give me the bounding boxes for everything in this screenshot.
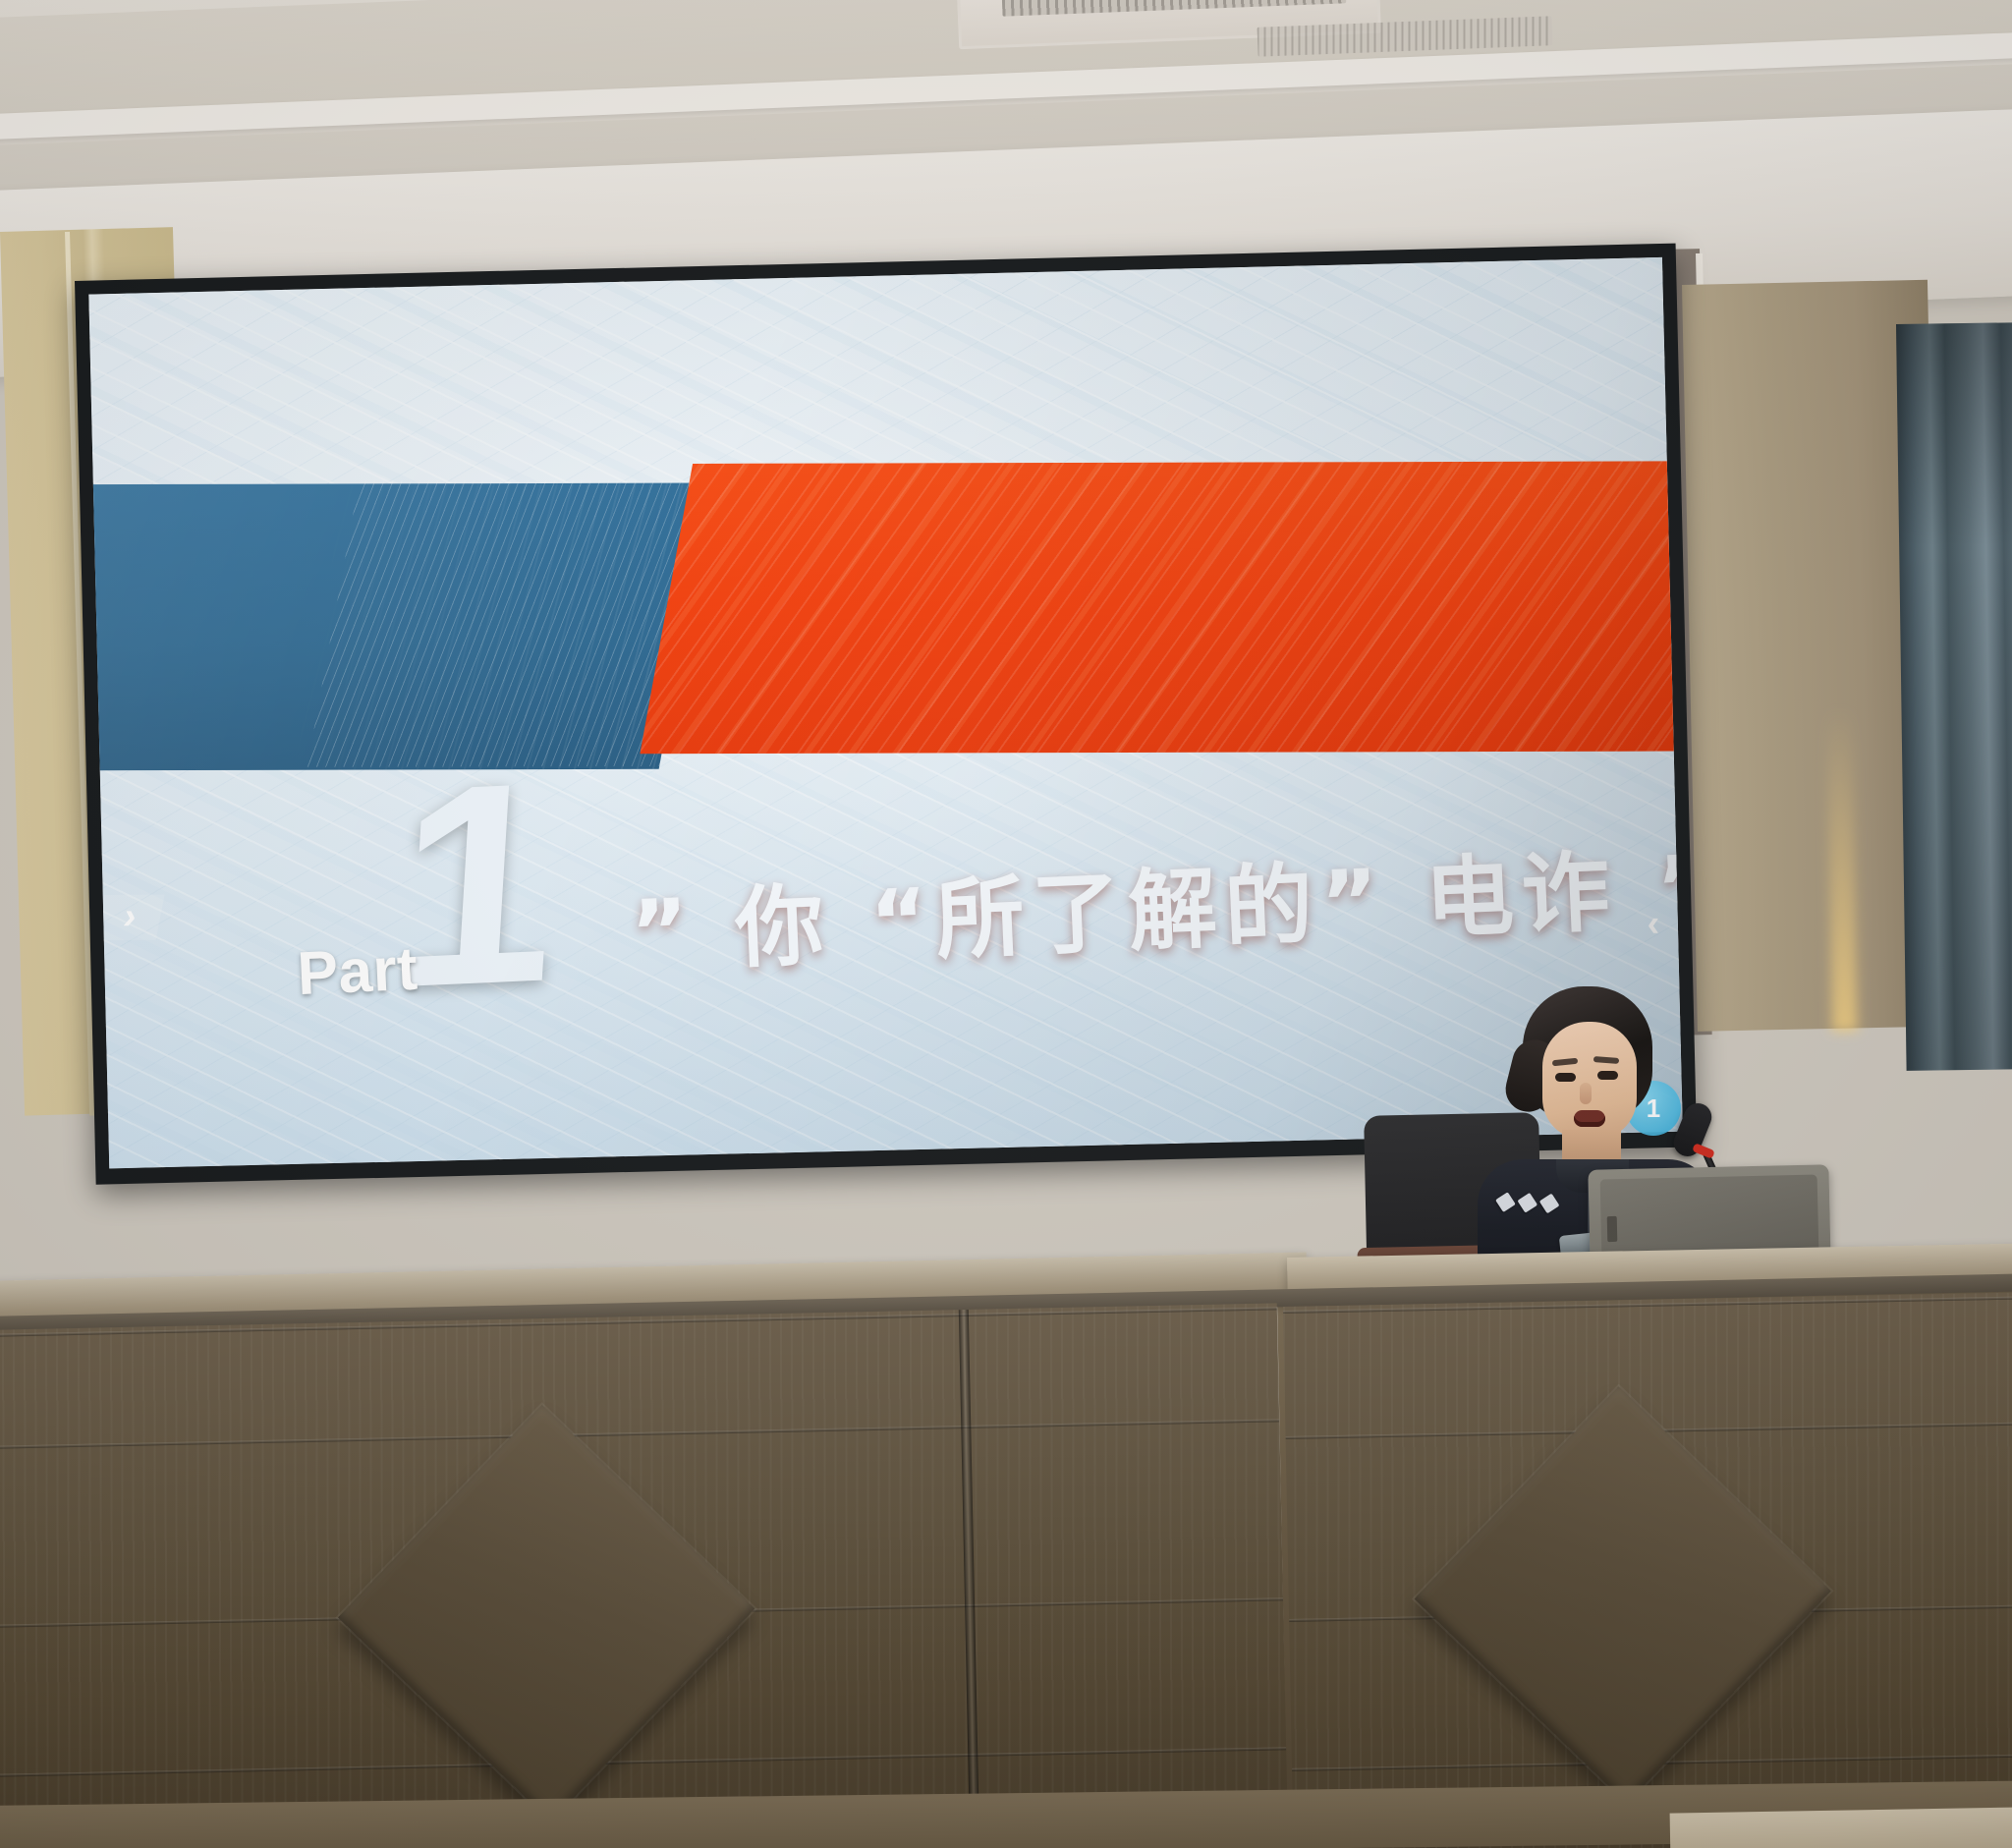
panel-diamond-inset [1415,1386,1831,1803]
slide-prev-arrow-icon[interactable]: › [95,895,165,940]
conference-room-scene: 1 Part ” 你 “所了解的” 电诈 ” › ‹ 1 [0,0,2012,1848]
foreground-surface [1670,1806,2012,1848]
presenter-mouth [1574,1110,1605,1127]
laptop-logo-icon [1607,1216,1618,1242]
rank-pip-icon [1495,1192,1516,1212]
presenter-eye-left [1555,1073,1576,1082]
projection-screen-frame: 1 Part ” 你 “所了解的” 电诈 ” › ‹ [75,244,1697,1185]
presenter-eye-right [1597,1071,1618,1080]
podium-panel-left [0,1303,1288,1848]
slide-next-arrow-icon[interactable]: ‹ [1623,902,1683,947]
panel-seam [0,1747,1286,1777]
presenter-nose [1580,1083,1592,1104]
rank-pip-icon [1517,1193,1537,1213]
panel-divider [959,1310,979,1830]
panel-seam [0,1419,1279,1449]
podium-panel-right [1283,1292,2012,1848]
curtain-shading [1896,322,2012,1071]
slide-part-label: Part [296,934,419,1009]
slide-orange-band-texture [640,461,1682,754]
projection-screen[interactable]: 1 Part ” 你 “所了解的” 电诈 ” › ‹ [88,257,1683,1168]
